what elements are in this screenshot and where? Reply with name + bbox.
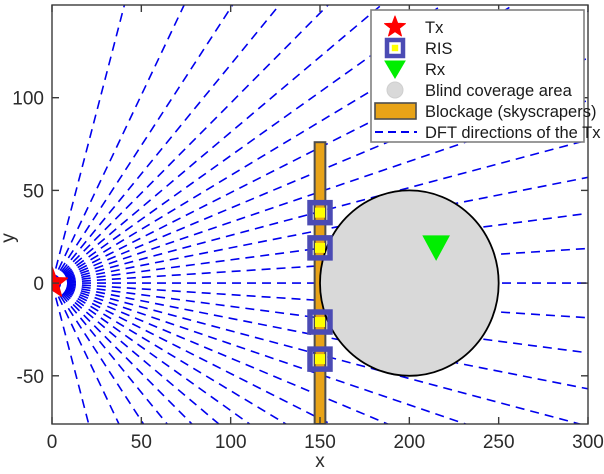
legend-entry: Blockage (skyscrapers): [375, 103, 596, 121]
ris-marker-core: [315, 317, 325, 327]
y-tick-label: -50: [17, 367, 44, 388]
ris-marker-core: [315, 208, 325, 218]
legend-entry-label: DFT directions of the Tx: [425, 124, 601, 142]
y-axis-title: y: [0, 233, 19, 243]
legend-entry-label: RIS: [425, 40, 453, 58]
y-tick-label: 100: [12, 89, 44, 110]
ris-marker-core: [315, 354, 325, 364]
y-tick-label: 50: [23, 181, 44, 202]
x-tick-label: 150: [304, 432, 336, 453]
blind-area-ellipse: [320, 190, 499, 375]
plot-figure: 050100150200250300 100500-50 x y TxRISRx…: [0, 0, 604, 474]
x-tick-label: 100: [215, 432, 247, 453]
x-tick-label: 200: [393, 432, 425, 453]
x-axis-title: x: [315, 451, 325, 472]
legend: TxRISRxBlind coverage areaBlockage (skys…: [371, 10, 601, 142]
legend-blockage-swatch: [375, 103, 416, 119]
legend-square-core-icon: [392, 45, 398, 51]
ris-marker-core: [315, 243, 325, 253]
y-tick-label: 0: [33, 274, 44, 295]
legend-entry-label: Blind coverage area: [425, 82, 573, 100]
legend-entry-label: Blockage (skyscrapers): [425, 103, 596, 121]
legend-entry-label: Rx: [425, 61, 446, 79]
legend-circle-icon: [387, 82, 403, 98]
legend-box-border: [371, 10, 584, 142]
blind-coverage-circle: [320, 190, 499, 375]
legend-entry-label: Tx: [425, 19, 444, 37]
x-tick-label: 50: [131, 432, 152, 453]
x-tick-label: 250: [483, 432, 515, 453]
x-tick-label: 300: [572, 432, 604, 453]
x-tick-label: 0: [47, 432, 58, 453]
